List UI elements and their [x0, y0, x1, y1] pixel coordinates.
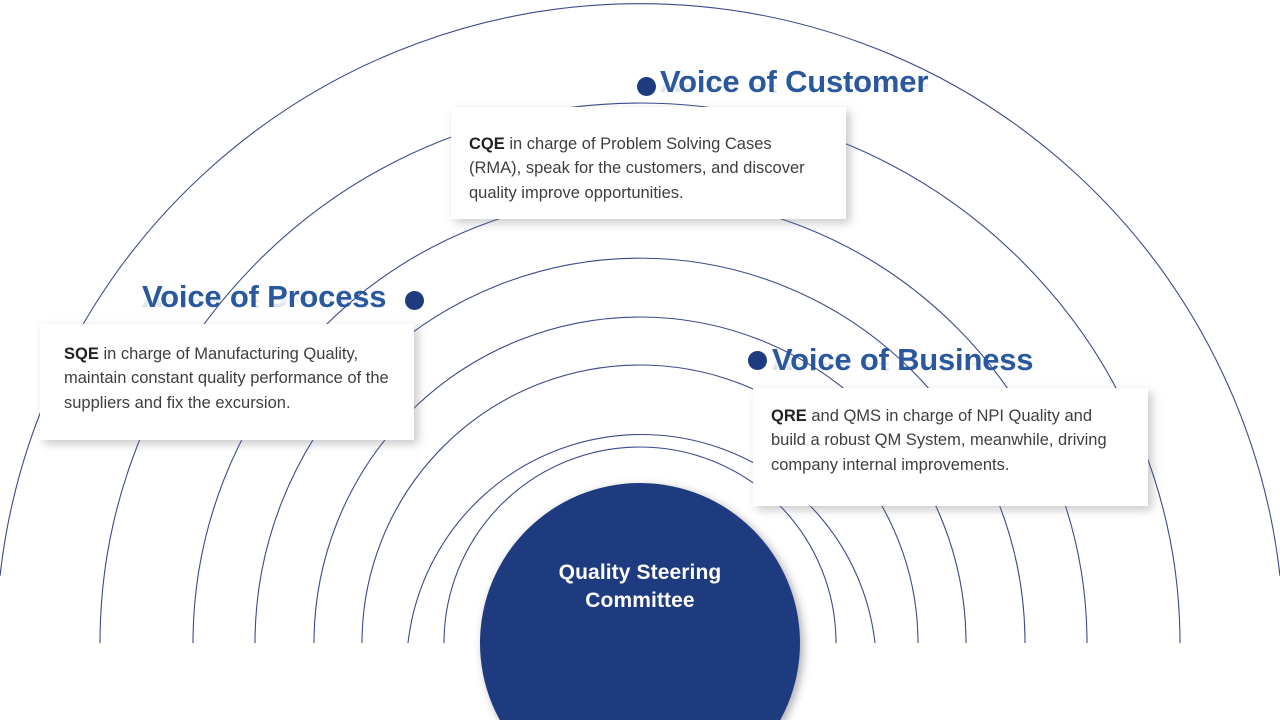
- node-dot-process-icon: [405, 291, 424, 310]
- branch-card-customer-text: CQE in charge of Problem Solving Cases (…: [469, 132, 821, 205]
- branch-role-business: QRE: [771, 407, 807, 425]
- branch-card-business[interactable]: QRE and QMS in charge of NPI Quality and…: [753, 388, 1148, 506]
- branch-role-customer: CQE: [469, 135, 505, 153]
- branch-title-business-text: Voice of Business: [772, 342, 1033, 377]
- branch-body-process: in charge of Manufacturing Quality, main…: [64, 345, 389, 412]
- branch-title-process-text: Voice of Process: [142, 279, 386, 314]
- branch-card-customer[interactable]: CQE in charge of Problem Solving Cases (…: [451, 107, 846, 219]
- branch-title-customer-text: Voice of Customer: [660, 64, 928, 99]
- node-dot-customer-icon: [637, 77, 656, 96]
- diagram-canvas: Quality Steering Committee Voice of Cust…: [0, 0, 1280, 720]
- node-dot-business-icon: [748, 351, 767, 370]
- hub-label-line1: Quality Steering: [559, 561, 722, 584]
- branch-role-process: SQE: [64, 345, 99, 363]
- hub-label-line2: Committee: [585, 589, 694, 612]
- branch-body-business: and QMS in charge of NPI Quality and bui…: [771, 407, 1107, 474]
- branch-body-customer: in charge of Problem Solving Cases (RMA)…: [469, 135, 805, 202]
- branch-card-business-text: QRE and QMS in charge of NPI Quality and…: [771, 404, 1130, 477]
- branch-title-process[interactable]: Voice of Process Voice of Process: [142, 281, 386, 312]
- branch-card-process[interactable]: SQE in charge of Manufacturing Quality, …: [40, 324, 414, 440]
- branch-title-business[interactable]: Voice of Business Voice of Business: [772, 344, 1033, 375]
- hub-label: Quality Steering Committee: [525, 559, 755, 616]
- branch-card-process-text: SQE in charge of Manufacturing Quality, …: [64, 342, 398, 415]
- branch-title-customer[interactable]: Voice of Customer Voice of Customer: [660, 66, 928, 97]
